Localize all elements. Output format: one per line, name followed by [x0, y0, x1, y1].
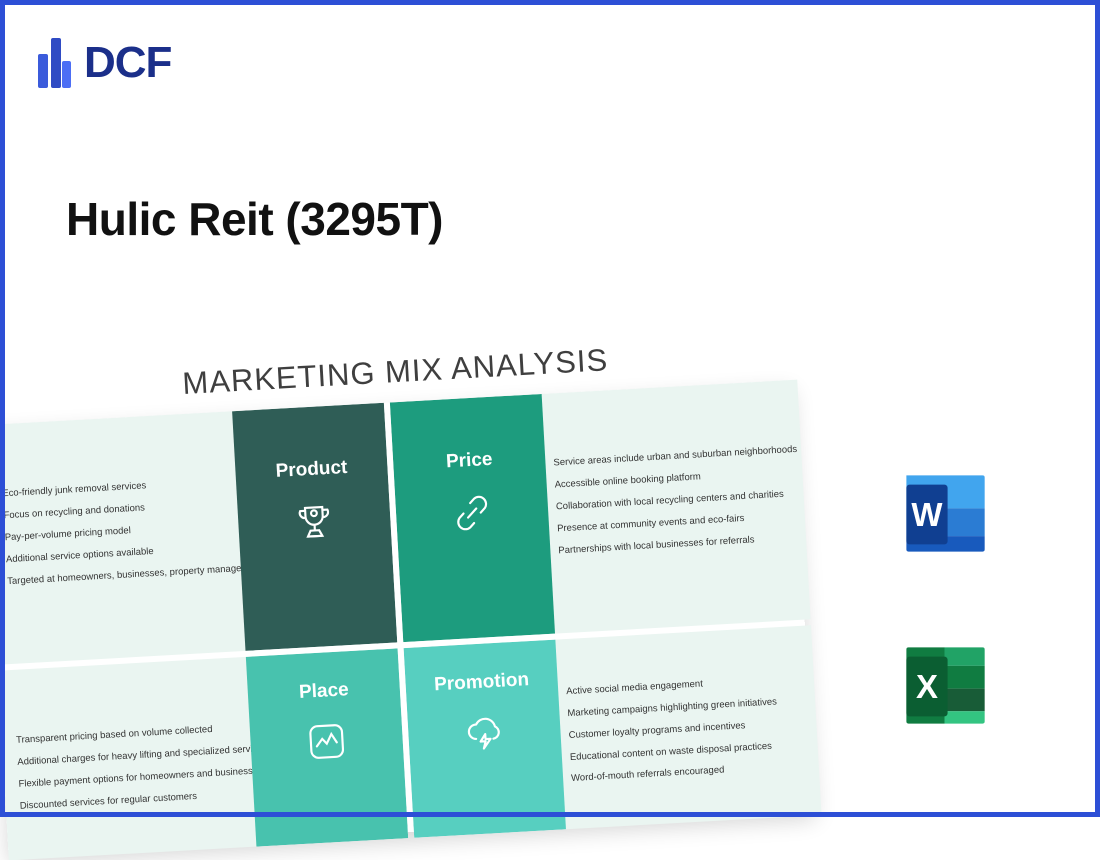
product-label: Product — [235, 455, 388, 485]
quadrant-place: Transparent pricing based on volume coll… — [0, 648, 408, 860]
quadrant-product: Eco-friendly junk removal services Focus… — [0, 403, 397, 665]
marketing-mix-slide: MARKETING MIX ANALYSIS Eco-friendly junk… — [0, 360, 812, 830]
bullet: Marketing campaigns highlighting green i… — [567, 695, 805, 718]
bullet: Presence at community events and eco-fai… — [557, 511, 795, 534]
quadrant-grid: Eco-friendly junk removal services Focus… — [0, 380, 815, 854]
bullet: Educational content on waste disposal pr… — [570, 739, 808, 762]
product-label-panel: Product — [232, 403, 397, 651]
link-icon — [395, 486, 549, 540]
excel-download-icon[interactable]: X — [893, 634, 996, 737]
price-label-panel: Price — [390, 394, 555, 642]
microsoft-excel-icon: X — [893, 634, 996, 737]
excel-letter: X — [916, 668, 938, 705]
bullet: Partnerships with local businesses for r… — [558, 533, 796, 556]
word-download-icon[interactable]: W — [893, 462, 996, 565]
promotion-label: Promotion — [405, 668, 558, 698]
microsoft-word-icon: W — [893, 462, 996, 565]
trophy-icon — [237, 495, 391, 549]
page-title: Hulic Reit (3295T) — [66, 192, 443, 246]
slide-edge-accent — [797, 380, 810, 620]
dcf-bars-logo-icon — [38, 38, 72, 88]
price-label: Price — [393, 446, 546, 476]
word-letter: W — [911, 496, 943, 533]
price-bullets: Service areas include urban and suburban… — [553, 445, 797, 568]
quadrant-promotion: Promotion Active social media engagement… — [404, 625, 822, 837]
bullet: Active social media engagement — [566, 673, 804, 696]
brand-logo[interactable]: DCF — [38, 38, 171, 88]
quadrant-price: Price Service areas include urban and su… — [390, 380, 811, 642]
brand-name: DCF — [84, 38, 171, 88]
place-label: Place — [247, 676, 400, 706]
slide-edge-accent-2 — [811, 625, 822, 815]
bullet: Collaboration with local recycling cente… — [556, 489, 794, 512]
bullet: Service areas include urban and suburban… — [553, 445, 791, 468]
bullet: Accessible online booking platform — [554, 467, 792, 490]
bullet: Word-of-mouth referrals encouraged — [571, 761, 809, 784]
bullet: Customer loyalty programs and incentives — [568, 717, 806, 740]
promotion-bullets: Active social media engagement Marketing… — [566, 673, 810, 796]
promotion-label-panel: Promotion — [404, 640, 566, 838]
cloud-bolt-icon — [407, 705, 561, 759]
chart-wave-icon — [250, 714, 404, 768]
